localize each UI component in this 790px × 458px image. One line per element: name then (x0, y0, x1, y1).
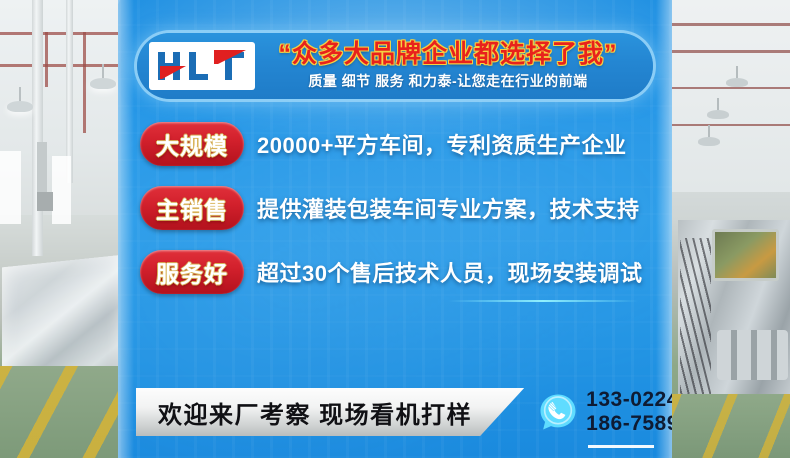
feature-badge-sales: 主销售 (140, 186, 244, 230)
bottom-white-rule (588, 445, 654, 448)
hlt-logo (149, 42, 255, 90)
feature-row: 主销售 提供灌装包装车间专业方案，技术支持 (140, 186, 654, 230)
factory-machine-photo-right (672, 0, 790, 458)
feature-text: 20000+平方车间，专利资质生产企业 (257, 128, 627, 160)
phone-number-2: 186-7589-6676 (586, 412, 672, 436)
phone-number-1: 133-0224-7177 (586, 388, 672, 412)
phone-bubble-icon (538, 392, 578, 432)
feature-list: 大规模 20000+平方车间，专利资质生产企业 主销售 提供灌装包装车间专业方案… (140, 122, 654, 294)
headline: “众多大品牌企业都选择了我” (278, 41, 617, 67)
feature-badge-label: 服务好 (156, 255, 228, 289)
feature-badge-scale: 大规模 (140, 122, 244, 166)
feature-row: 大规模 20000+平方车间，专利资质生产企业 (140, 122, 654, 166)
subline: 质量 细节 服务 和力泰-让您走在行业的前端 (308, 71, 587, 91)
cyan-divider (448, 300, 638, 302)
feature-badge-service: 服务好 (140, 250, 244, 294)
blue-overlay-panel: “众多大品牌企业都选择了我” 质量 细节 服务 和力泰-让您走在行业的前端 大规… (118, 0, 672, 458)
feature-badge-label: 主销售 (156, 191, 228, 225)
header-bar: “众多大品牌企业都选择了我” 质量 细节 服务 和力泰-让您走在行业的前端 (137, 33, 653, 99)
panel-left-glow (118, 0, 134, 458)
factory-workshop-photo-left (0, 0, 118, 458)
promo-banner: “众多大品牌企业都选择了我” 质量 细节 服务 和力泰-让您走在行业的前端 大规… (0, 0, 790, 458)
phone-block: 133-0224-7177 186-7589-6676 (538, 388, 672, 435)
feature-badge-label: 大规模 (156, 127, 228, 161)
hlt-logo-mark (156, 48, 248, 84)
phone-numbers: 133-0224-7177 186-7589-6676 (586, 388, 672, 435)
feature-text: 超过30个售后技术人员，现场安装调试 (257, 256, 642, 288)
header-text-block: “众多大品牌企业都选择了我” 质量 细节 服务 和力泰-让您走在行业的前端 (255, 41, 653, 91)
bottom-bar: 欢迎来厂考察 现场看机打样 133-0224-7177 186-7589-667… (136, 384, 654, 440)
cta-label: 欢迎来厂考察 现场看机打样 (158, 395, 472, 430)
feature-row: 服务好 超过30个售后技术人员，现场安装调试 (140, 250, 654, 294)
feature-text: 提供灌装包装车间专业方案，技术支持 (257, 192, 640, 224)
visit-factory-tag: 欢迎来厂考察 现场看机打样 (136, 388, 524, 436)
